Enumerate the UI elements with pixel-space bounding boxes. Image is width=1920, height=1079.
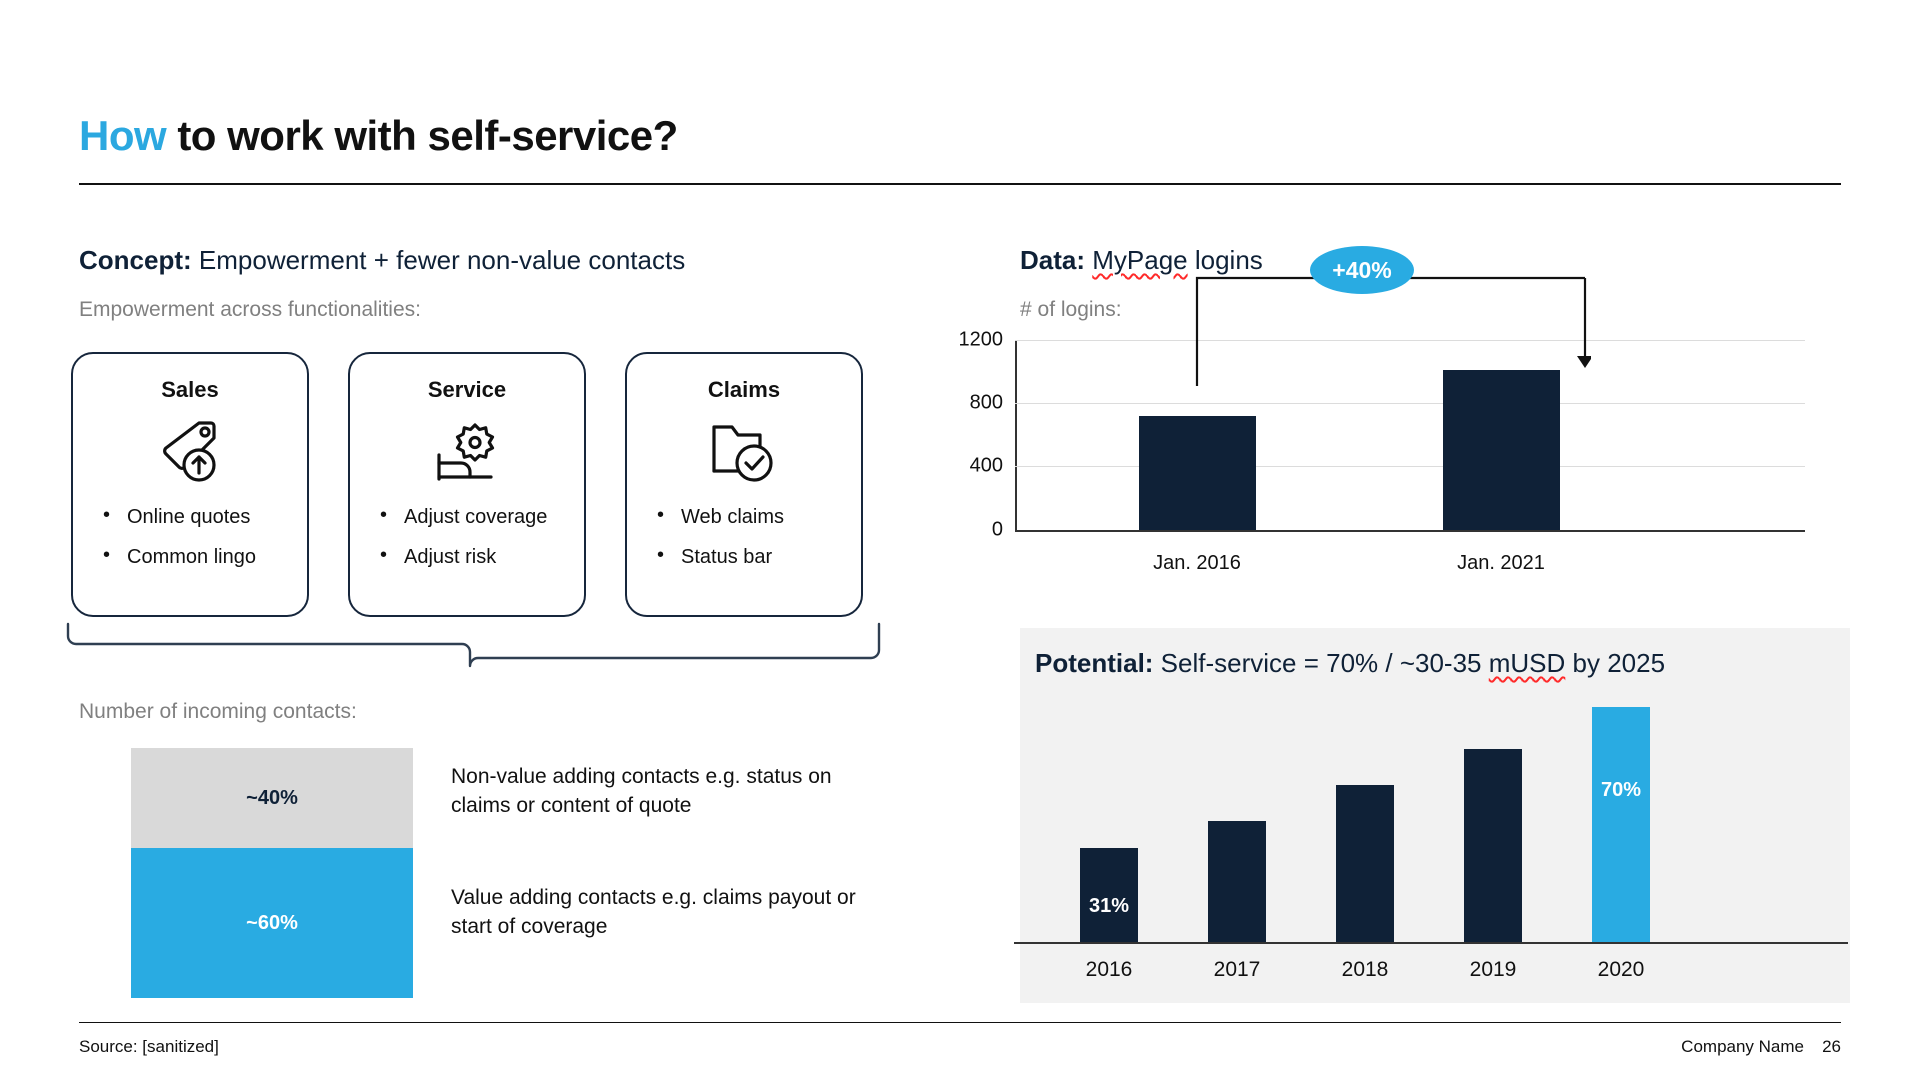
stack-segment-nonvalue: ~40% bbox=[131, 748, 413, 848]
growth-badge: +40% bbox=[1310, 246, 1414, 294]
y-tick-label: 0 bbox=[992, 519, 1003, 542]
gear-hand-support-icon bbox=[350, 416, 584, 488]
card-service-list: Adjust coverage Adjust risk bbox=[374, 506, 572, 586]
stack-segment-value: ~60% bbox=[131, 848, 413, 998]
concept-sub-label: Empowerment across functionalities: bbox=[79, 298, 421, 322]
list-item: Status bar bbox=[651, 546, 849, 569]
functionality-cards: Sales Online quotes Common lingo Service bbox=[71, 352, 871, 617]
list-item: Web claims bbox=[651, 506, 849, 529]
y-tick-label: 800 bbox=[970, 392, 1003, 415]
concept-heading-label: Concept: bbox=[79, 245, 192, 275]
bar-value-2016: 31% bbox=[1080, 895, 1138, 918]
incoming-contacts-label: Number of incoming contacts: bbox=[79, 700, 357, 724]
title-divider bbox=[79, 183, 1841, 185]
grouping-brace bbox=[66, 622, 881, 670]
potential-heading-label: Potential: bbox=[1035, 648, 1153, 678]
card-sales-title: Sales bbox=[73, 377, 307, 403]
x-tick-label: 2018 bbox=[1314, 958, 1416, 982]
logins-x-axis bbox=[1015, 530, 1805, 532]
potential-heading-text-a: Self-service = 70% / ~30-35 bbox=[1153, 648, 1488, 678]
price-tag-arrow-up-icon bbox=[73, 416, 307, 488]
list-item: Common lingo bbox=[97, 546, 295, 569]
slide-canvas: How to work with self-service? Concept: … bbox=[0, 0, 1920, 1079]
x-tick-label: 2019 bbox=[1442, 958, 1544, 982]
company-name: Company Name bbox=[1681, 1037, 1804, 1057]
stack-note-value: Value adding contacts e.g. claims payout… bbox=[451, 883, 881, 941]
incoming-contacts-stacked-bar: ~40% ~60% bbox=[131, 748, 413, 998]
stack-note-nonvalue: Non-value adding contacts e.g. status on… bbox=[451, 762, 881, 820]
bar-jan-2021 bbox=[1443, 370, 1560, 530]
page-title-rest: to work with self-service? bbox=[166, 112, 678, 159]
y-tick-label: 1200 bbox=[959, 329, 1004, 352]
card-service-title: Service bbox=[350, 377, 584, 403]
card-service[interactable]: Service Adjust coverage Adjust risk bbox=[348, 352, 586, 617]
card-claims-list: Web claims Status bar bbox=[651, 506, 849, 586]
bar-value-2020: 70% bbox=[1592, 779, 1650, 802]
page-title: How to work with self-service? bbox=[79, 112, 678, 160]
x-tick-label: 2016 bbox=[1058, 958, 1160, 982]
x-tick-label: Jan. 2021 bbox=[1457, 552, 1545, 575]
logins-axis-label: # of logins: bbox=[1020, 298, 1122, 322]
concept-heading: Concept: Empowerment + fewer non-value c… bbox=[79, 245, 685, 276]
footer-divider bbox=[79, 1022, 1841, 1023]
card-sales-list: Online quotes Common lingo bbox=[97, 506, 295, 586]
data-heading-term: MyPage bbox=[1092, 245, 1187, 275]
potential-x-axis bbox=[1014, 942, 1848, 944]
potential-heading-term: mUSD bbox=[1489, 648, 1566, 678]
list-item: Online quotes bbox=[97, 506, 295, 529]
page-number: 26 bbox=[1822, 1037, 1841, 1057]
gridline bbox=[1015, 466, 1805, 467]
self-service-bar-chart: 31% 2016 2017 2018 2019 70% 2020 bbox=[1048, 700, 1826, 942]
x-tick-label: Jan. 2016 bbox=[1153, 552, 1241, 575]
gridline bbox=[1015, 403, 1805, 404]
page-title-highlight: How bbox=[79, 112, 166, 159]
source-note: Source: [sanitized] bbox=[79, 1037, 219, 1057]
bar-jan-2016 bbox=[1139, 416, 1256, 530]
card-sales[interactable]: Sales Online quotes Common lingo bbox=[71, 352, 309, 617]
x-tick-label: 2020 bbox=[1570, 958, 1672, 982]
logins-bar-chart: 1200 800 400 0 Jan. 2016 Jan. 2021 +40% bbox=[1015, 340, 1805, 530]
list-item: Adjust coverage bbox=[374, 506, 572, 529]
logins-y-axis bbox=[1015, 340, 1017, 530]
data-heading-label: Data: bbox=[1020, 245, 1085, 275]
card-claims-title: Claims bbox=[627, 377, 861, 403]
y-tick-label: 400 bbox=[970, 455, 1003, 478]
data-heading-rest: logins bbox=[1188, 245, 1263, 275]
concept-heading-text: Empowerment + fewer non-value contacts bbox=[192, 245, 686, 275]
folder-check-icon bbox=[627, 416, 861, 488]
x-tick-label: 2017 bbox=[1186, 958, 1288, 982]
potential-heading-text-c: by 2025 bbox=[1565, 648, 1665, 678]
list-item: Adjust risk bbox=[374, 546, 572, 569]
potential-heading: Potential: Self-service = 70% / ~30-35 m… bbox=[1035, 648, 1665, 679]
card-claims[interactable]: Claims Web claims Status bar bbox=[625, 352, 863, 617]
